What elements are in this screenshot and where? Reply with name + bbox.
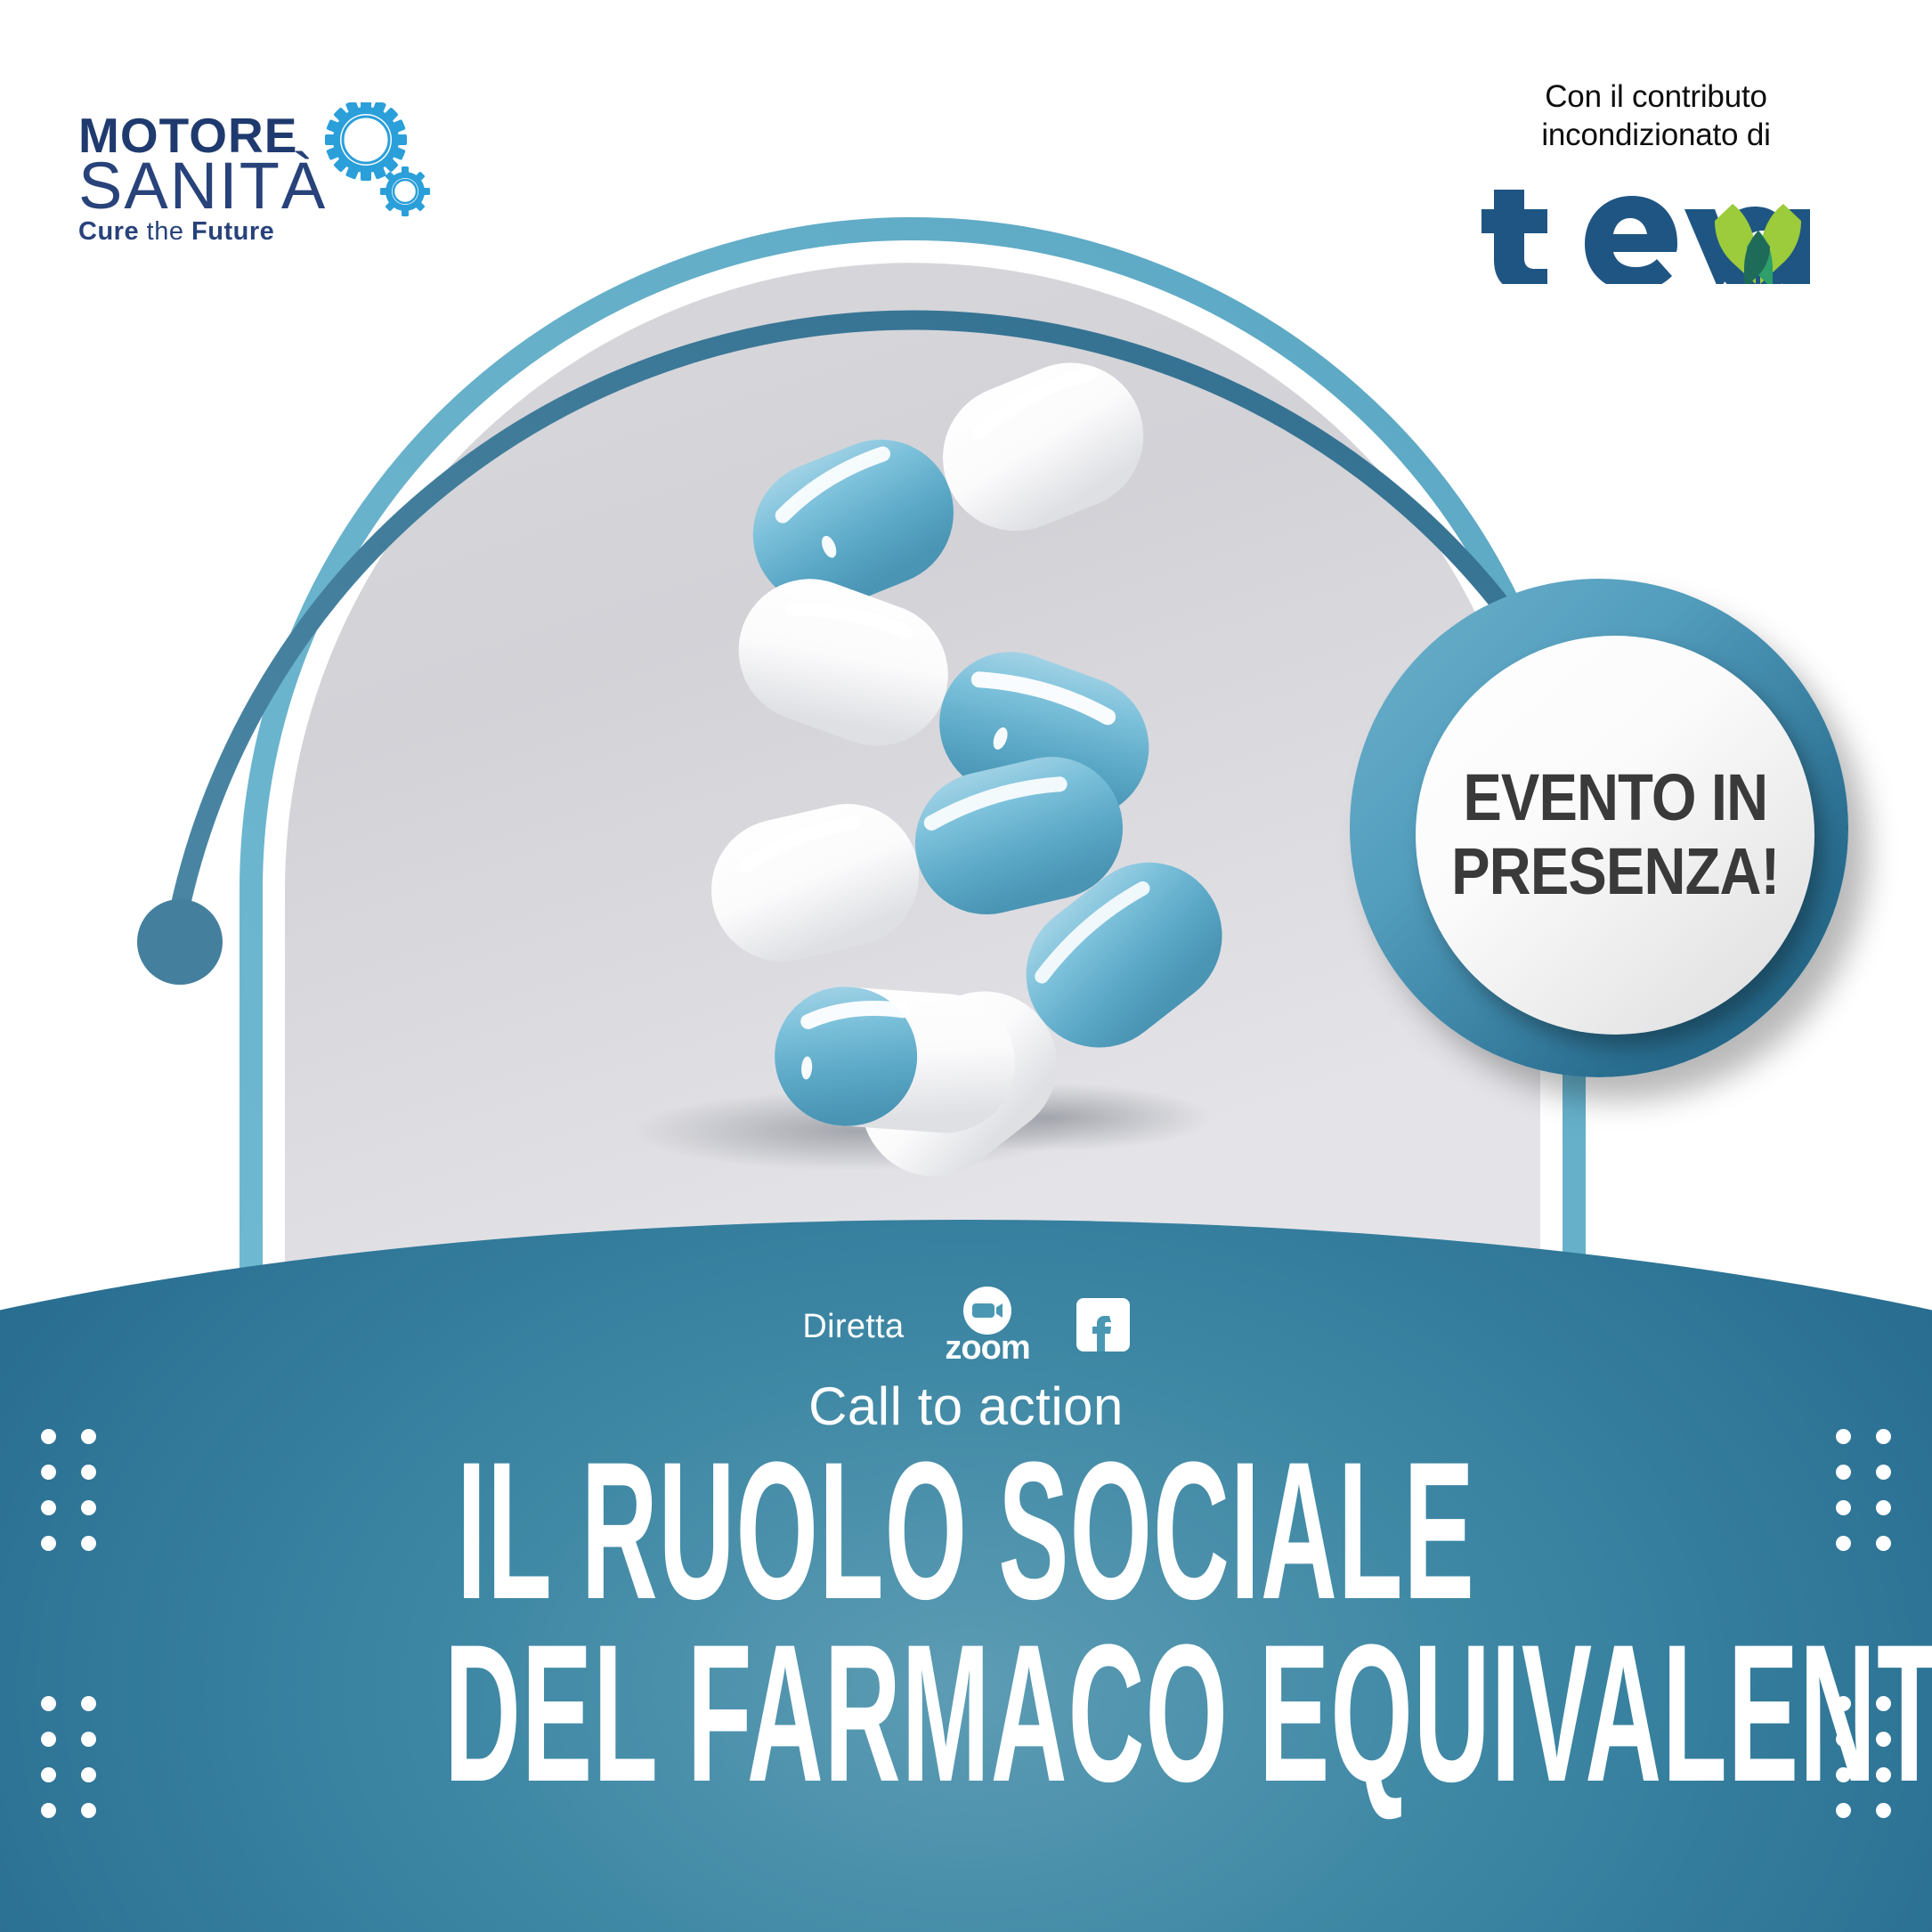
dot [1836,1696,1851,1711]
badge-ring: EVENTO IN PRESENZA! [1350,579,1848,1077]
facebook-platform[interactable] [1076,1298,1130,1356]
badge-line-2: PRESENZA! [1451,835,1779,909]
dot [1876,1465,1891,1480]
dot [1836,1536,1851,1551]
band-content: Diretta zoom Call to action [0,1220,1932,1932]
dot [41,1429,56,1444]
dot [1876,1767,1891,1782]
capsule-5 [770,982,1019,1137]
zoom-icon [963,1287,1011,1335]
dot [41,1803,56,1818]
dot [1836,1732,1851,1747]
dot [1876,1429,1891,1444]
dot [1836,1500,1851,1515]
bottom-band: Diretta zoom Call to action [0,1220,1932,1932]
dot [1836,1429,1851,1444]
dot-grid-right-bottom [1836,1696,1891,1839]
dot [1876,1696,1891,1711]
dot [81,1500,96,1515]
event-title: IL RUOLO SOCIALE DEL FARMACO EQUIVALENTE [0,1447,1932,1798]
dot [41,1732,56,1747]
badge-face: EVENTO IN PRESENZA! [1416,636,1814,1035]
dot-grid-left-bottom [41,1696,96,1839]
dot [81,1696,96,1711]
event-poster: MOTORE SANITÀ Cure the Future [0,0,1932,1932]
dot [1836,1465,1851,1480]
dot [81,1465,96,1480]
gear-icon [323,102,430,218]
sponsor-note-line2: incondizionato di [1469,117,1843,155]
dot [81,1536,96,1551]
dot [41,1696,56,1711]
motore-sanita-logo[interactable]: MOTORE SANITÀ Cure the Future [78,111,345,245]
dot [1836,1767,1851,1782]
dot [1876,1536,1891,1551]
dot [1876,1500,1891,1515]
zoom-platform[interactable]: zoom [945,1287,1029,1368]
sponsor-note-line1: Con il contributo [1469,78,1843,117]
dot [81,1767,96,1782]
dot [81,1429,96,1444]
sponsor-note: Con il contributo incondizionato di [1469,78,1843,154]
tagline-light-the: the [139,217,191,246]
teva-logo-mark [1478,177,1834,284]
dot-grid-left-top [41,1429,96,1571]
event-title-line-2: DEL FARMACO EQUIVALENTE [444,1629,1488,1798]
dot [81,1803,96,1818]
tagline-bold-future: Future [191,217,274,246]
tagline-bold-cure: Cure [78,217,139,246]
dot [1836,1803,1851,1818]
badge-line-1: EVENTO IN [1451,761,1779,835]
logo-sanita-text: SANITÀ [78,155,345,217]
dot [41,1767,56,1782]
dot [1876,1732,1891,1747]
dot [41,1500,56,1515]
event-title-line-1: IL RUOLO SOCIALE [444,1447,1488,1615]
dot [41,1536,56,1551]
zoom-wordmark: zoom [945,1329,1029,1368]
arc-end-dot [137,899,223,985]
dot [41,1465,56,1480]
badge-label: EVENTO IN PRESENZA! [1451,761,1779,909]
dot [81,1732,96,1747]
logo-tagline: Cure the Future [78,219,345,245]
facebook-icon [1076,1298,1130,1352]
diretta-label: Diretta [802,1308,904,1346]
dot [1876,1803,1891,1818]
evento-in-presenza-badge[interactable]: EVENTO IN PRESENZA! [1334,570,1904,1122]
broadcast-row: Diretta zoom [0,1287,1932,1368]
teva-logo[interactable] [1469,177,1843,284]
dot-grid-right-top [1836,1429,1891,1571]
sponsor-block: Con il contributo incondizionato di [1469,78,1843,284]
